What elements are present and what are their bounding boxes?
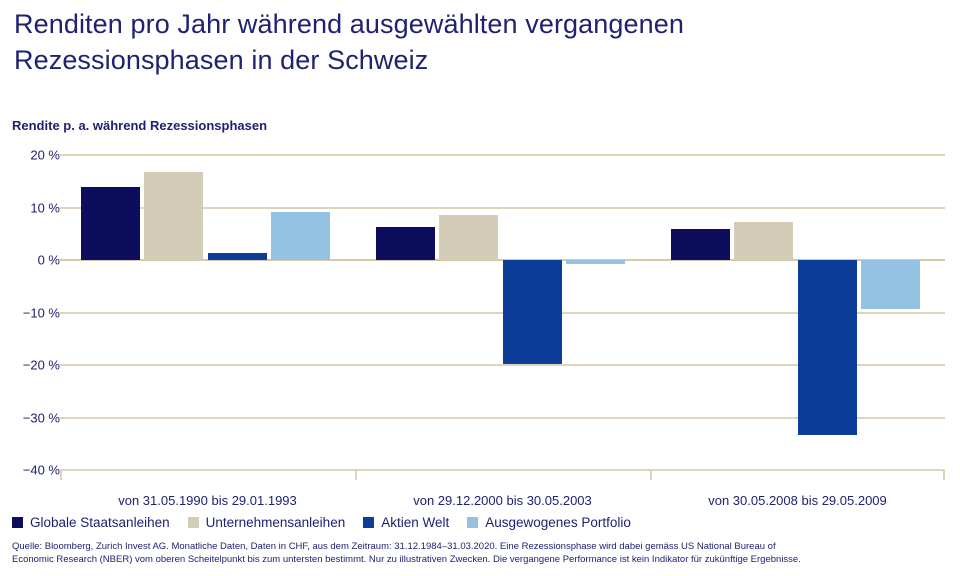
chart-subtitle: Rendite p. a. während Rezessionsphasen: [12, 118, 267, 133]
legend-item[interactable]: Aktien Welt: [363, 515, 449, 530]
legend-item[interactable]: Ausgewogenes Portfolio: [467, 515, 631, 530]
legend-swatch-icon: [467, 517, 478, 528]
plot-area: [60, 145, 945, 485]
legend-swatch-icon: [363, 517, 374, 528]
legend-swatch-icon: [12, 517, 23, 528]
legend-item[interactable]: Globale Staatsanleihen: [12, 515, 170, 530]
title-line-1: Renditen pro Jahr während ausgewählten v…: [14, 6, 914, 42]
bar[interactable]: [503, 260, 562, 364]
bar[interactable]: [144, 172, 203, 260]
x-axis-category-label: von 31.05.1990 bis 29.01.1993: [118, 493, 297, 508]
x-axis-category-label: von 30.05.2008 bis 29.05.2009: [708, 493, 887, 508]
bar[interactable]: [81, 187, 140, 260]
page-title: Renditen pro Jahr während ausgewählten v…: [14, 6, 914, 78]
category-separator: [650, 469, 652, 480]
legend-label: Aktien Welt: [381, 515, 449, 530]
category-separator: [355, 469, 357, 480]
y-axis-labels: 20 %10 %0 %−10 %−20 %−30 %−40 %: [0, 145, 60, 485]
title-line-2: Rezessionsphasen in der Schweiz: [14, 42, 914, 78]
bar[interactable]: [271, 212, 330, 260]
legend-swatch-icon: [188, 517, 199, 528]
legend-label: Unternehmensanleihen: [206, 515, 346, 530]
bar[interactable]: [861, 260, 920, 309]
bar[interactable]: [376, 227, 435, 260]
y-axis-tick: 20 %: [4, 148, 60, 163]
legend-item[interactable]: Unternehmensanleihen: [188, 515, 346, 530]
source-footnote: Quelle: Bloomberg, Zurich Invest AG. Mon…: [12, 541, 952, 566]
category-separator: [60, 469, 62, 480]
bar[interactable]: [734, 222, 793, 260]
bar[interactable]: [208, 253, 267, 260]
category-separator: [943, 469, 945, 480]
y-axis-tick: −30 %: [4, 410, 60, 425]
y-axis-tick: −10 %: [4, 305, 60, 320]
legend-label: Ausgewogenes Portfolio: [485, 515, 631, 530]
x-axis-category-label: von 29.12.2000 bis 30.05.2003: [413, 493, 592, 508]
y-axis-tick: 0 %: [4, 253, 60, 268]
y-axis-tick: −40 %: [4, 463, 60, 478]
y-axis-tick: 10 %: [4, 200, 60, 215]
x-axis-labels: von 31.05.1990 bis 29.01.1993von 29.12.2…: [60, 485, 945, 515]
y-axis-tick: −20 %: [4, 358, 60, 373]
bar[interactable]: [671, 229, 730, 260]
bar[interactable]: [798, 260, 857, 435]
gridline: [60, 154, 945, 156]
chart-legend: Globale StaatsanleihenUnternehmensanleih…: [12, 515, 649, 530]
x-axis-line: [60, 469, 945, 471]
bar-chart: 20 %10 %0 %−10 %−20 %−30 %−40 % von 31.0…: [0, 145, 960, 485]
bar[interactable]: [439, 215, 498, 260]
legend-label: Globale Staatsanleihen: [30, 515, 170, 530]
footnote-line-1: Quelle: Bloomberg, Zurich Invest AG. Mon…: [12, 541, 952, 554]
bar[interactable]: [566, 260, 625, 264]
footnote-line-2: Economic Research (NBER) vom oberen Sche…: [12, 554, 952, 567]
